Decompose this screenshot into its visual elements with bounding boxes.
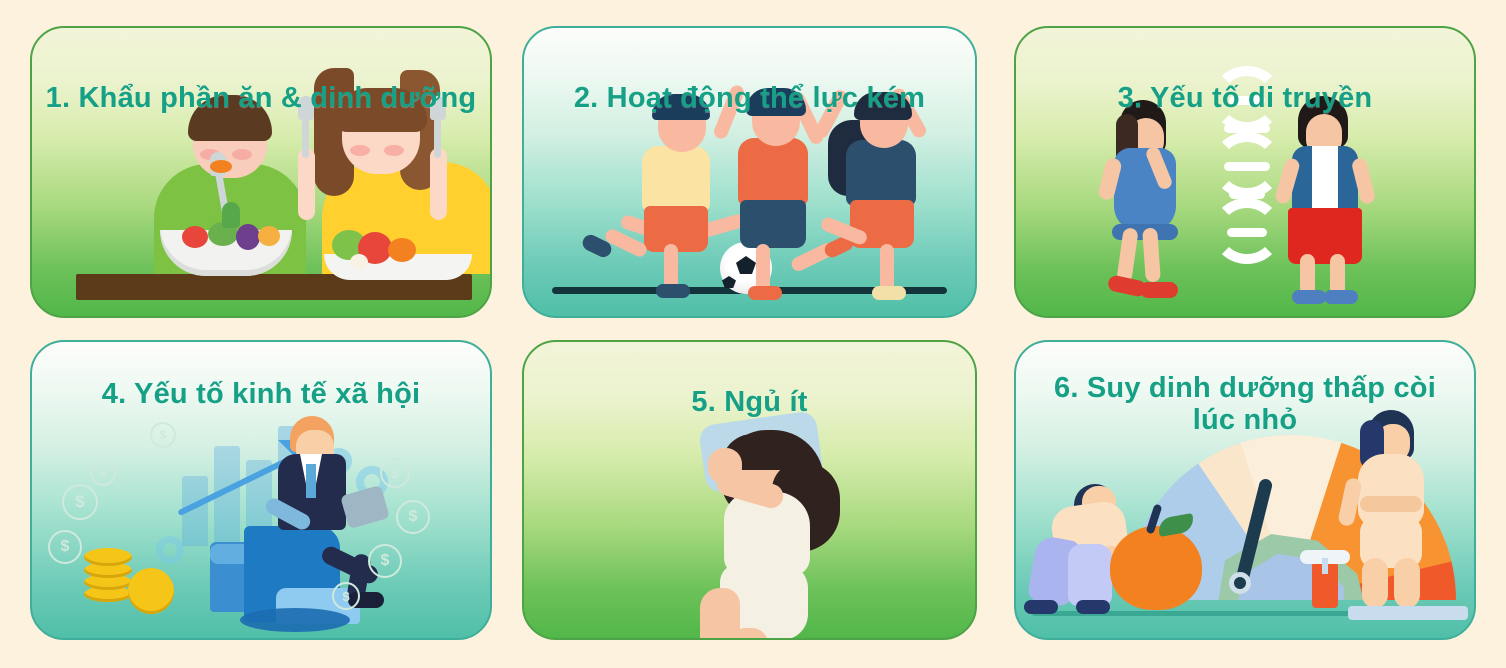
dollar-icon: $ (332, 582, 360, 610)
dollar-icon: $ (48, 530, 82, 564)
card-6-title: 6. Suy dinh dưỡng thấp còi lúc nhỏ (1016, 372, 1474, 437)
dollar-icon: $ (380, 458, 410, 488)
card-1[interactable]: 1. Khẩu phần ăn & dinh dưỡng (30, 26, 492, 318)
card-5[interactable]: 5. Ngủ ít (522, 340, 977, 640)
dollar-icon: $ (150, 422, 176, 448)
dollar-icon: $ (62, 484, 98, 520)
card-5-title: 5. Ngủ ít (524, 386, 975, 418)
dollar-icon: $ (90, 460, 116, 486)
illustration-genetics (1016, 28, 1474, 316)
card-4[interactable]: $ $ $ $ $ $ $ $ 4. Yếu tố kinh tế xã hội (30, 340, 492, 640)
card-3[interactable]: 3. Yếu tố di truyền (1014, 26, 1476, 318)
dollar-icon: $ (368, 544, 402, 578)
illustration-eating (32, 28, 490, 316)
card-1-title: 1. Khẩu phần ăn & dinh dưỡng (32, 82, 490, 114)
card-2[interactable]: 2. Hoạt động thể lực kém (522, 26, 977, 318)
illustration-physical-activity (524, 28, 975, 316)
card-3-title: 3. Yếu tố di truyền (1016, 82, 1474, 114)
infographic-board: 1. Khẩu phần ăn & dinh dưỡng (0, 0, 1506, 668)
card-6[interactable]: 6. Suy dinh dưỡng thấp còi lúc nhỏ (1014, 340, 1476, 640)
apple (1110, 526, 1202, 610)
card-2-title: 2. Hoạt động thể lực kém (524, 82, 975, 114)
dollar-icon: $ (396, 500, 430, 534)
card-4-title: 4. Yếu tố kinh tế xã hội (32, 378, 490, 410)
